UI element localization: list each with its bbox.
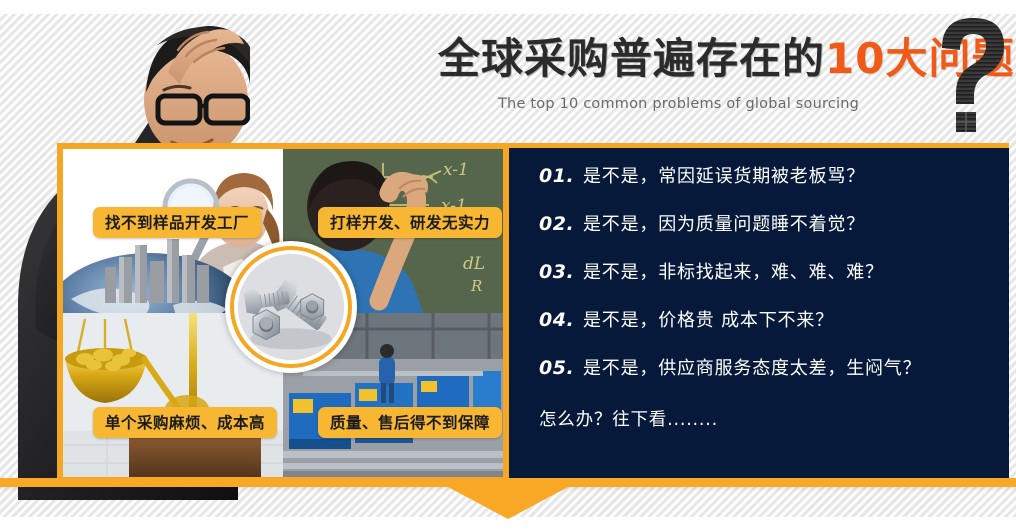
image-collage: x-1 x-1 R dL R F/P y=2x xyxy=(63,149,503,477)
list-item-number: 05. xyxy=(539,357,583,379)
list-item-text: 是不是，价格贵 成本下不来？ xyxy=(583,306,834,332)
header: 全球采购普遍存在的10大问题 The top 10 common problem… xyxy=(430,38,1016,138)
collage-chip-label: 单个采购麻烦、成本高 xyxy=(93,407,277,438)
collage-frame: x-1 x-1 R dL R F/P y=2x xyxy=(57,143,509,483)
page-subtitle: The top 10 common problems of global sou… xyxy=(498,96,859,112)
svg-text:R: R xyxy=(470,277,482,295)
list-item-text: 是不是，供应商服务态度太差，生闷气？ xyxy=(583,354,921,380)
list-item: 01. 是不是，常因延误货期被老板骂？ xyxy=(539,162,1009,210)
closing-line: 怎么办？往下看........ xyxy=(539,406,1009,431)
bottom-orange-band xyxy=(0,478,1016,487)
problem-list: 01. 是不是，常因延误货期被老板骂？ 02. 是不是，因为质量问题睡不着觉？ … xyxy=(539,162,1009,431)
list-item: 03. 是不是，非标找起来，难、难、难？ xyxy=(539,258,1009,306)
background-bottom-strip xyxy=(0,517,1016,531)
list-item-text: 是不是，非标找起来，难、难、难？ xyxy=(583,258,884,284)
list-item-number: 04. xyxy=(539,309,583,331)
list-item-number: 03. xyxy=(539,261,583,283)
page-title-main: 全球采购普遍存在的 xyxy=(438,34,825,83)
list-item-number: 01. xyxy=(539,165,583,187)
list-item-number: 02. xyxy=(539,213,583,235)
main-panel: x-1 x-1 R dL R F/P y=2x xyxy=(57,143,1009,483)
poster-stage: 全球采购普遍存在的10大问题 The top 10 common problem… xyxy=(0,0,1016,531)
list-item: 05. 是不是，供应商服务态度太差，生闷气？ xyxy=(539,354,1009,402)
bolts-and-nuts-photo xyxy=(238,254,344,360)
emblem-orange-ring xyxy=(230,246,352,368)
list-item-text: 是不是，常因延误货期被老板骂？ xyxy=(583,162,865,188)
down-arrow-icon xyxy=(448,487,568,519)
svg-text:dL: dL xyxy=(463,254,485,274)
list-item: 04. 是不是，价格贵 成本下不来？ xyxy=(539,306,1009,354)
question-mark-icon xyxy=(928,14,1014,134)
list-item-text: 是不是，因为质量问题睡不着觉？ xyxy=(583,210,865,236)
svg-text:x-1: x-1 xyxy=(443,160,469,180)
collage-chip-label: 找不到样品开发工厂 xyxy=(93,207,261,238)
collage-chip-label: 质量、售后得不到保障 xyxy=(318,407,502,438)
collage-chip-label: 打样开发、研发无实力 xyxy=(318,207,502,238)
problem-list-panel: 01. 是不是，常因延误货期被老板骂？ 02. 是不是，因为质量问题睡不着觉？ … xyxy=(509,143,1009,483)
list-item: 02. 是不是，因为质量问题睡不着觉？ xyxy=(539,210,1009,258)
center-emblem xyxy=(225,241,357,373)
